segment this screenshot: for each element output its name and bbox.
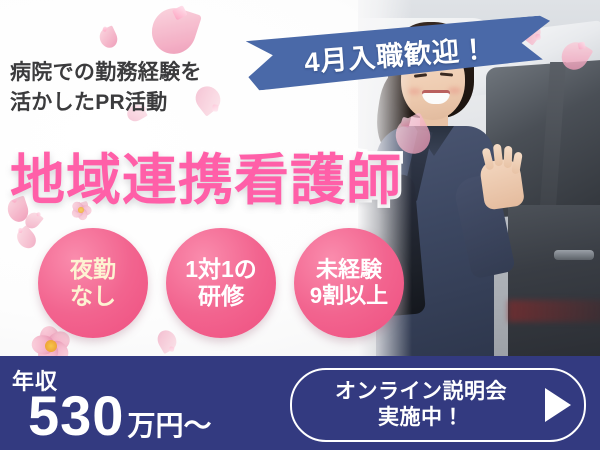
salary-unit: 万円～ — [127, 412, 211, 440]
car-door-handle — [554, 250, 594, 260]
salary-value: 530 万円～ — [28, 388, 211, 444]
badge-line-1: 夜勤 — [70, 256, 116, 283]
sakura-petal-icon — [146, 2, 202, 59]
car-tail-light-glow — [508, 300, 600, 322]
badge-inexperienced-ratio: 未経験 9割以上 — [294, 228, 404, 338]
sakura-petal-icon — [154, 327, 180, 354]
badge-line-1: 1対1の — [185, 256, 257, 283]
subheadline: 病院での勤務経験を 活かしたPR活動 — [10, 58, 270, 118]
cta-label: オンライン説明会 実施中！ — [292, 379, 532, 430]
play-triangle-icon[interactable] — [532, 388, 584, 422]
badge-line-1: 未経験 — [316, 257, 382, 283]
salary-amount: 530 — [28, 388, 124, 444]
badge-line-2: 9割以上 — [310, 283, 388, 309]
cta-line-2: 実施中！ — [310, 405, 532, 431]
badge-line-2: 研修 — [198, 283, 244, 310]
badge-no-night-shift: 夜勤 なし — [38, 228, 148, 338]
car-door-panel — [508, 205, 600, 356]
page-title: 地域連携看護師 — [10, 140, 480, 210]
sakura-petal-icon — [97, 25, 121, 50]
sakura-petal-icon — [13, 225, 40, 252]
nurse-finger — [504, 146, 513, 168]
badge-line-2: なし — [70, 283, 116, 310]
badge-one-on-one-training: 1対1の 研修 — [166, 228, 276, 338]
recruitment-ad-banner: 4月入職歓迎！ 病院での勤務経験を 活かしたPR活動 地域連携看護師 夜勤 なし… — [0, 0, 600, 450]
cta-line-1: オンライン説明会 — [310, 379, 532, 405]
subheadline-line-2: 活かしたPR活動 — [10, 88, 270, 118]
subheadline-line-1: 病院での勤務経験を — [10, 58, 270, 88]
online-briefing-cta-button[interactable]: オンライン説明会 実施中！ — [290, 368, 586, 442]
